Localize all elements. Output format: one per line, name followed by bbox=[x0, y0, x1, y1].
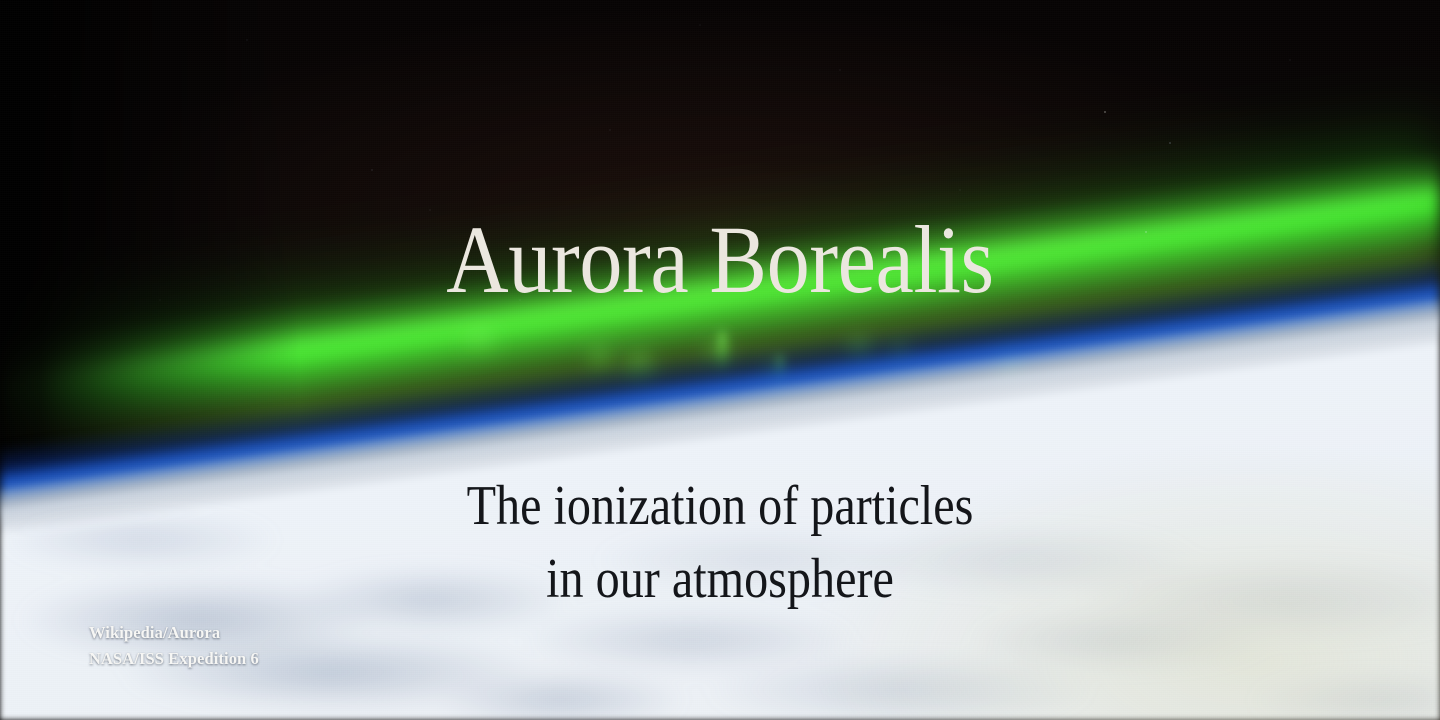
aurora-ray bbox=[588, 346, 612, 380]
aurora-ray bbox=[996, 352, 1024, 382]
credit-imagery-line: NASA/ISS Expedition 6 bbox=[89, 646, 259, 672]
aurora-ray bbox=[890, 344, 910, 372]
aurora-ray bbox=[718, 330, 727, 376]
credit-source-line: Wikipedia/Aurora bbox=[89, 620, 259, 646]
aurora-ray bbox=[705, 340, 731, 374]
aurora-ray bbox=[847, 338, 873, 370]
aurora-ray bbox=[463, 330, 497, 360]
slide-canvas: Aurora Borealis The ionization of partic… bbox=[0, 0, 1440, 720]
credits: Wikipedia/Aurora NASA/ISS Expedition 6 bbox=[89, 620, 259, 671]
subtitle: The ionization of particles in our atmos… bbox=[101, 470, 1339, 616]
subtitle-line-2: in our atmosphere bbox=[101, 543, 1339, 616]
aurora-ray bbox=[625, 352, 655, 392]
subtitle-line-1: The ionization of particles bbox=[101, 470, 1339, 543]
aurora-ray bbox=[764, 362, 786, 392]
aurora-ray bbox=[776, 355, 784, 393]
page-title: Aurora Borealis bbox=[72, 212, 1368, 308]
